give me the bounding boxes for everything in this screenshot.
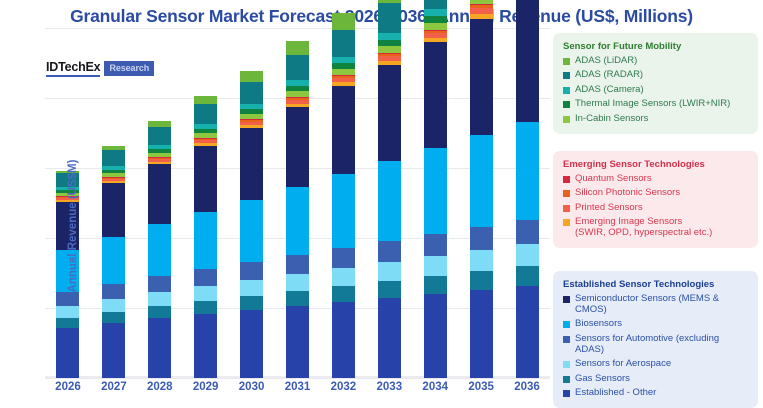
legend-swatch-icon xyxy=(563,116,570,123)
bar-segment xyxy=(332,174,355,248)
x-axis-label-2027: 2027 xyxy=(91,381,137,393)
bar-2035[interactable] xyxy=(470,0,493,378)
bar-segment xyxy=(194,212,217,269)
bar-segment xyxy=(194,146,217,212)
bar-segment xyxy=(102,237,125,284)
x-axis-label-2030: 2030 xyxy=(229,381,275,393)
bar-segment xyxy=(194,104,217,124)
legend-item-label: Emerging Image Sensors(SWIR, OPD, hypers… xyxy=(575,217,712,239)
bar-segment xyxy=(332,86,355,174)
bar-segment xyxy=(286,255,309,274)
legend-swatch-icon xyxy=(563,390,570,397)
bar-segment xyxy=(102,312,125,323)
legend-item[interactable]: Sensors for Aerospace xyxy=(563,359,748,370)
legend-item[interactable]: Gas Sensors xyxy=(563,374,748,385)
bar-segment xyxy=(332,30,355,57)
bar-segment xyxy=(424,0,447,9)
bar-segment xyxy=(148,306,171,318)
bar-segment xyxy=(240,200,263,262)
bar-segment xyxy=(516,122,539,220)
legend-item-label: Gas Sensors xyxy=(575,374,630,385)
bar-segment xyxy=(424,294,447,378)
legend-emerging: Emerging Sensor Technologies Quantum Sen… xyxy=(553,151,758,248)
legend-item[interactable]: Quantum Sensors xyxy=(563,174,748,185)
legend-item[interactable]: Printed Sensors xyxy=(563,203,748,214)
x-axis-label-2026: 2026 xyxy=(45,381,91,393)
legend-item-label: Sensors for Automotive (excluding ADAS) xyxy=(575,334,748,356)
bar-segment xyxy=(378,65,401,161)
bar-segment xyxy=(148,127,171,145)
bar-segment xyxy=(378,281,401,298)
legend-item-label: In-Cabin Sensors xyxy=(575,114,648,125)
bar-segment xyxy=(424,256,447,276)
x-axis-labels: 2026202720282029203020312032203320342035… xyxy=(45,381,550,399)
legend-item-label: ADAS (LiDAR) xyxy=(575,56,637,67)
plot-area: Annual Revenue (US$M) xyxy=(45,28,550,378)
bar-segment xyxy=(194,286,217,301)
bar-segment xyxy=(470,135,493,227)
x-axis-label-2032: 2032 xyxy=(320,381,366,393)
legend-item[interactable]: Biosensors xyxy=(563,319,748,330)
legend-title: Emerging Sensor Technologies xyxy=(563,159,748,170)
legend-item-label: Biosensors xyxy=(575,319,622,330)
idtechex-logo: IDTechEx Research xyxy=(46,60,154,77)
bar-segment xyxy=(102,183,125,237)
legend-item-label: Quantum Sensors xyxy=(575,174,652,185)
bar-segment xyxy=(378,298,401,378)
legend-established: Established Sensor Technologies Semicond… xyxy=(553,271,758,408)
bar-segment xyxy=(332,302,355,378)
bar-segment xyxy=(102,150,125,166)
bar-segment xyxy=(240,280,263,296)
legend-item-label: Semiconductor Sensors (MEMS & CMOS) xyxy=(575,294,748,316)
legend-item-label: ADAS (RADAR) xyxy=(575,70,643,81)
logo-research-badge: Research xyxy=(104,61,154,76)
legend-item-label: Silicon Photonic Sensors xyxy=(575,188,680,199)
legend-title: Established Sensor Technologies xyxy=(563,279,748,290)
bar-segment xyxy=(56,328,79,378)
bar-segment xyxy=(332,268,355,286)
bar-2033[interactable] xyxy=(378,0,401,378)
bar-segment xyxy=(286,187,309,255)
bar-segment xyxy=(102,323,125,378)
bar-segment xyxy=(286,274,309,291)
legend-item-label: ADAS (Camera) xyxy=(575,85,644,96)
legend-swatch-icon xyxy=(563,205,570,212)
bar-segment xyxy=(194,269,217,286)
bar-2034[interactable] xyxy=(424,0,447,378)
x-axis-label-2029: 2029 xyxy=(183,381,229,393)
legend-item-label: Thermal Image Sensors (LWIR+NIR) xyxy=(575,99,730,110)
bar-segment xyxy=(424,23,447,30)
bar-segment xyxy=(470,250,493,271)
bar-segment xyxy=(470,271,493,290)
legend-item[interactable]: Emerging Image Sensors(SWIR, OPD, hypers… xyxy=(563,217,748,239)
gridline xyxy=(45,378,550,379)
legend-swatch-icon xyxy=(563,190,570,197)
legend-title: Sensor for Future Mobility xyxy=(563,41,748,52)
legend-item[interactable]: Sensors for Automotive (excluding ADAS) xyxy=(563,334,748,356)
legend-swatch-icon xyxy=(563,336,570,343)
bar-2029[interactable] xyxy=(194,96,217,378)
bar-segment xyxy=(286,41,309,55)
bar-segment xyxy=(470,19,493,135)
bar-segment xyxy=(240,262,263,280)
bar-segment xyxy=(424,148,447,234)
bar-series-container xyxy=(45,28,550,378)
legend-item-sublabel: (SWIR, OPD, hyperspectral etc.) xyxy=(575,228,712,239)
bar-2027[interactable] xyxy=(102,146,125,378)
bar-segment xyxy=(516,286,539,378)
legend-future-mobility: Sensor for Future Mobility ADAS (LiDAR)A… xyxy=(553,33,758,134)
bar-segment xyxy=(516,244,539,266)
legend-swatch-icon xyxy=(563,376,570,383)
chart-root: Granular Sensor Market Forecast 2026-203… xyxy=(0,0,763,403)
legend-swatch-icon xyxy=(563,296,570,303)
bar-segment xyxy=(240,310,263,378)
bar-segment xyxy=(240,296,263,310)
bar-segment xyxy=(148,318,171,378)
bar-segment xyxy=(332,248,355,268)
legend-item-label: Established - Other xyxy=(575,388,656,399)
legend-item[interactable]: Thermal Image Sensors (LWIR+NIR) xyxy=(563,99,748,110)
legend-item[interactable]: ADAS (Camera) xyxy=(563,85,748,96)
bar-segment xyxy=(194,96,217,104)
bar-segment xyxy=(378,161,401,241)
bar-segment xyxy=(286,107,309,187)
bar-segment xyxy=(194,314,217,378)
bar-2028[interactable] xyxy=(148,121,171,378)
legend-swatch-icon xyxy=(563,321,570,328)
bar-segment xyxy=(424,42,447,148)
legend-swatch-icon xyxy=(563,361,570,368)
bar-segment xyxy=(516,220,539,244)
legend-swatch-icon xyxy=(563,176,570,183)
legend-swatch-icon xyxy=(563,219,570,226)
bar-segment xyxy=(286,55,309,80)
bar-segment xyxy=(332,286,355,302)
bar-segment xyxy=(516,266,539,286)
bar-segment xyxy=(332,13,355,30)
x-axis-label-2034: 2034 xyxy=(412,381,458,393)
bar-segment xyxy=(378,3,401,33)
legend-swatch-icon xyxy=(563,72,570,79)
bar-segment xyxy=(470,227,493,250)
bar-segment xyxy=(148,224,171,276)
x-axis-label-2028: 2028 xyxy=(137,381,183,393)
legend-item[interactable]: ADAS (LiDAR) xyxy=(563,56,748,67)
bar-segment xyxy=(240,128,263,200)
legend-item[interactable]: In-Cabin Sensors xyxy=(563,114,748,125)
logo-wordmark: IDTechEx xyxy=(46,60,100,77)
legend-items: ADAS (LiDAR)ADAS (RADAR)ADAS (Camera)The… xyxy=(563,56,748,125)
legend-swatch-icon xyxy=(563,58,570,65)
bar-segment xyxy=(240,71,263,82)
bar-segment xyxy=(424,276,447,294)
bar-segment xyxy=(286,306,309,378)
bar-segment xyxy=(102,284,125,299)
bar-2032[interactable] xyxy=(332,13,355,378)
bar-segment xyxy=(424,9,447,16)
bar-segment xyxy=(148,292,171,306)
bar-segment xyxy=(378,33,401,40)
bar-segment xyxy=(102,299,125,312)
legend-items: Quantum SensorsSilicon Photonic SensorsP… xyxy=(563,174,748,239)
legend-item[interactable]: ADAS (RADAR) xyxy=(563,70,748,81)
legend-swatch-icon xyxy=(563,87,570,94)
legend-item-label: Sensors for Aerospace xyxy=(575,359,671,370)
legend-item[interactable]: Semiconductor Sensors (MEMS & CMOS) xyxy=(563,294,748,316)
bar-segment xyxy=(378,241,401,262)
bar-segment xyxy=(424,16,447,23)
legend-item[interactable]: Established - Other xyxy=(563,388,748,399)
bar-segment xyxy=(148,164,171,224)
bar-segment xyxy=(286,291,309,306)
legend-swatch-icon xyxy=(563,101,570,108)
legend-items: Semiconductor Sensors (MEMS & CMOS)Biose… xyxy=(563,294,748,399)
bar-segment xyxy=(148,276,171,292)
bar-segment xyxy=(194,301,217,314)
bar-segment xyxy=(424,234,447,256)
bar-2031[interactable] xyxy=(286,41,309,378)
bar-2030[interactable] xyxy=(240,71,263,378)
bar-segment xyxy=(240,82,263,104)
bar-segment xyxy=(378,46,401,53)
x-axis-label-2035: 2035 xyxy=(458,381,504,393)
x-axis-label-2031: 2031 xyxy=(275,381,321,393)
bar-segment xyxy=(470,290,493,378)
x-axis-label-2033: 2033 xyxy=(366,381,412,393)
x-axis-label-2036: 2036 xyxy=(504,381,550,393)
legend-item-label: Printed Sensors xyxy=(575,203,643,214)
y-axis-title: Annual Revenue (US$M) xyxy=(67,136,79,316)
bar-segment xyxy=(516,0,539,122)
legend-item[interactable]: Silicon Photonic Sensors xyxy=(563,188,748,199)
bar-segment xyxy=(56,318,79,328)
bar-2036[interactable] xyxy=(516,0,539,378)
bar-segment xyxy=(378,262,401,281)
